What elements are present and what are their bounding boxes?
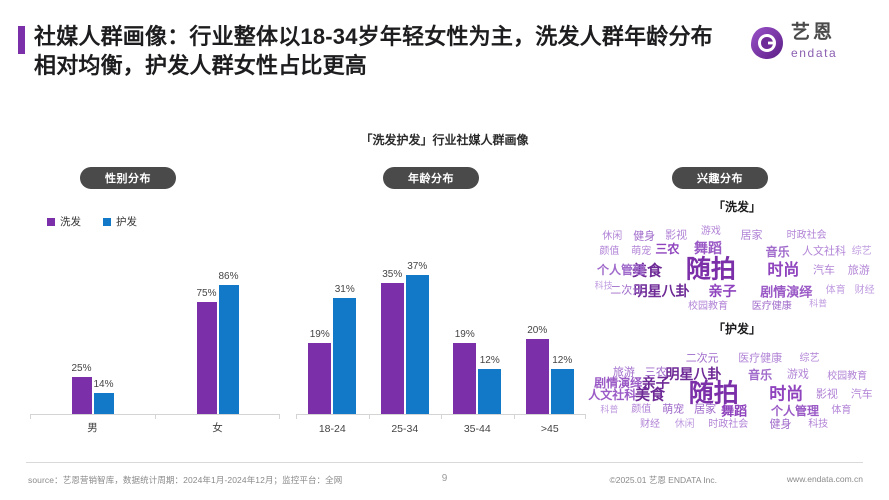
wordcloud-word: 时政社会 <box>708 420 748 430</box>
bar-group: 75%86% <box>197 264 239 414</box>
bar-group: 19%12% <box>453 264 501 414</box>
accent-bar <box>18 26 25 54</box>
legend-label-xifa: 洗发 <box>60 214 81 229</box>
bar-group: 19%31% <box>308 264 356 414</box>
bar-rect <box>72 377 92 415</box>
bar-value-label: 35% <box>382 269 402 280</box>
wordcloud-word: 财经 <box>640 420 660 430</box>
category-label: 35-44 <box>441 423 514 435</box>
bar-value-label: 75% <box>197 288 217 299</box>
wordcloud-word: 音乐 <box>748 369 772 381</box>
wordcloud-word: 颜值 <box>599 247 619 257</box>
wordcloud-word: 健身 <box>770 420 792 431</box>
wordcloud-word: 人文社科 <box>588 389 636 401</box>
wordcloud-word: 随拍 <box>686 257 736 282</box>
bar-rect <box>381 283 404 414</box>
axis-tick <box>279 415 280 419</box>
wordcloud-word: 校园教育 <box>688 302 728 312</box>
bar-女-洗发: 75% <box>197 302 217 415</box>
bar-rect <box>526 339 549 414</box>
wordcloud-word: 体育 <box>826 286 846 296</box>
category-label: >45 <box>514 423 587 435</box>
bar-rect <box>551 369 574 414</box>
wordcloud-xifa-words: 随拍时尚美食舞蹈明星八卦亲子剧情演绎个人管理音乐人文社科三农二次元影视游戏居家时… <box>592 219 882 317</box>
legend-item-xifa: 洗发 <box>47 214 81 229</box>
bar-group: 25%14% <box>72 264 114 414</box>
wordcloud-hufa-words: 随拍时尚美食明星八卦亲子舞蹈剧情演绎人文社科个人管理二次元医疗健康综艺音乐游戏校… <box>592 341 882 439</box>
wordcloud-word: 时政社会 <box>787 231 827 241</box>
wordcloud-word: 科普 <box>809 300 827 309</box>
bar-男-护发: 14% <box>94 393 114 414</box>
wordcloud-word: 校园教育 <box>827 372 867 382</box>
wordcloud-word: 科技 <box>595 281 613 290</box>
axis-tick <box>296 415 297 419</box>
wordcloud-word: 体育 <box>831 406 851 416</box>
bar-value-label: 19% <box>310 329 330 340</box>
wordcloud-word: 医疗健康 <box>752 302 792 312</box>
wordcloud-word: 舞蹈 <box>694 241 722 255</box>
wordcloud-word: 影视 <box>816 389 838 400</box>
bar-35-44-护发: 12% <box>478 369 501 414</box>
logo-text: 艺恩 endata <box>791 22 837 62</box>
bar-group: 35%37% <box>381 264 429 414</box>
wordcloud-word: 休闲 <box>675 420 695 430</box>
bar-25-34-护发: 37% <box>406 275 429 414</box>
wordcloud-word: 颜值 <box>631 405 651 415</box>
bar-value-label: 19% <box>455 329 475 340</box>
axis-tick <box>369 415 370 419</box>
logo-cn: 艺恩 <box>791 22 835 43</box>
bar-value-label: 14% <box>94 379 114 390</box>
wordcloud-word: 休闲 <box>602 232 622 242</box>
legend-item-hufa: 护发 <box>103 214 137 229</box>
page-number: 9 <box>0 473 889 484</box>
wordcloud-word: 居家 <box>741 230 763 241</box>
wordcloud-word: 汽车 <box>851 389 873 400</box>
wordcloud-hufa-heading: 「护发」 <box>592 320 882 337</box>
bar-value-label: 20% <box>527 325 547 336</box>
category-label: 女 <box>155 420 280 435</box>
bar-value-label: 37% <box>407 261 427 272</box>
bar-rect <box>406 275 429 414</box>
gender-distribution-chart: 25%14%男75%86%女 <box>30 232 280 437</box>
wordcloud-word: 时尚 <box>769 385 803 402</box>
wordcloud-word: 健身 <box>633 231 655 242</box>
bar-男-洗发: 25% <box>72 377 92 415</box>
axis-tick <box>155 415 156 419</box>
wordcloud-word: 综艺 <box>852 247 872 257</box>
bar-value-label: 31% <box>335 284 355 295</box>
age-distribution-chart: 19%31%18-2435%37%25-3419%12%35-4420%12%>… <box>296 232 586 437</box>
wordcloud-word: 个人管理 <box>597 264 645 276</box>
bar-value-label: 25% <box>72 363 92 374</box>
wordcloud-word: 影视 <box>665 230 687 241</box>
wordcloud-hufa: 「护发」 随拍时尚美食明星八卦亲子舞蹈剧情演绎人文社科个人管理二次元医疗健康综艺… <box>592 320 882 435</box>
bar-rect <box>197 302 217 415</box>
wordcloud-word: 萌宠 <box>662 404 684 415</box>
category-label: 25-34 <box>369 423 442 435</box>
chart-legend: 洗发 护发 <box>47 214 137 229</box>
bar->45-洗发: 20% <box>526 339 549 414</box>
wordcloud-word: 个人管理 <box>771 405 819 417</box>
wordcloud-word: 旅游 <box>848 265 870 276</box>
section-pill-interest: 兴趣分布 <box>672 167 768 189</box>
bar-rect <box>333 298 356 414</box>
axis-tick <box>30 415 31 419</box>
bar-18-24-护发: 31% <box>333 298 356 414</box>
chart-title: 「洗发护发」行业社媒人群画像 <box>0 131 889 148</box>
bar-rect <box>478 369 501 414</box>
wordcloud-word: 三农 <box>655 243 679 255</box>
wordcloud-xifa-heading: 「洗发」 <box>592 198 882 215</box>
wordcloud-word: 三农 <box>645 368 667 379</box>
category-label: 18-24 <box>296 423 369 435</box>
page-title: 社媒人群画像：行业整体以18-34岁年轻女性为主，洗发人群年龄分布相对均衡，护发… <box>34 22 734 80</box>
wordcloud-word: 居家 <box>694 404 716 415</box>
axis-tick <box>585 415 586 419</box>
axis-tick <box>514 415 515 419</box>
wordcloud-word: 舞蹈 <box>721 404 747 417</box>
bar-18-24-洗发: 19% <box>308 343 331 414</box>
wordcloud-word: 游戏 <box>701 227 721 237</box>
bar-25-34-洗发: 35% <box>381 283 404 414</box>
wordcloud-word: 亲子 <box>709 284 737 298</box>
wordcloud-word: 剧情演绎 <box>760 285 812 298</box>
wordcloud-word: 汽车 <box>813 265 835 276</box>
bar-value-label: 12% <box>480 355 500 366</box>
legend-swatch-xifa <box>47 218 55 226</box>
wordcloud-word: 萌宠 <box>631 247 651 257</box>
bar-rect <box>219 285 239 414</box>
wordcloud-word: 科普 <box>600 405 618 414</box>
wordcloud-word: 二次元 <box>610 285 643 296</box>
wordcloud-word: 财经 <box>855 286 875 296</box>
bar->45-护发: 12% <box>551 369 574 414</box>
bar-rect <box>94 393 114 414</box>
slide: 社媒人群画像：行业整体以18-34岁年轻女性为主，洗发人群年龄分布相对均衡，护发… <box>0 0 889 500</box>
wordcloud-word: 游戏 <box>787 370 809 381</box>
axis-tick <box>441 415 442 419</box>
wordcloud-word: 综艺 <box>800 354 820 364</box>
bar-group: 20%12% <box>526 264 574 414</box>
wordcloud-word: 人文社科 <box>802 247 846 258</box>
section-pill-age: 年龄分布 <box>383 167 479 189</box>
bar-35-44-洗发: 19% <box>453 343 476 414</box>
endata-logo-icon <box>749 25 785 61</box>
wordcloud-word: 明星八卦 <box>666 367 722 381</box>
bar-rect <box>453 343 476 414</box>
footer-divider <box>26 462 863 463</box>
wordcloud-xifa: 「洗发」 随拍时尚美食舞蹈明星八卦亲子剧情演绎个人管理音乐人文社科三农二次元影视… <box>592 198 882 313</box>
wordcloud-word: 医疗健康 <box>738 353 782 364</box>
category-label: 男 <box>30 420 155 435</box>
wordcloud-word: 时尚 <box>767 263 799 279</box>
bar-rect <box>308 343 331 414</box>
footer-url: www.endata.com.cn <box>787 474 863 484</box>
bar-女-护发: 86% <box>219 285 239 414</box>
legend-swatch-hufa <box>103 218 111 226</box>
wordcloud-word: 音乐 <box>766 246 790 258</box>
wordcloud-word: 旅游 <box>613 368 635 379</box>
wordcloud-word: 二次元 <box>686 353 719 364</box>
wordcloud-word: 科技 <box>808 420 828 430</box>
legend-label-hufa: 护发 <box>116 214 137 229</box>
bar-value-label: 86% <box>219 271 239 282</box>
logo-en: endata <box>791 46 837 60</box>
bar-value-label: 12% <box>552 355 572 366</box>
section-pill-gender: 性别分布 <box>80 167 176 189</box>
footer-copyright: ©2025.01 艺恩 ENDATA Inc. <box>609 474 717 486</box>
brand-logo: 艺恩 endata <box>749 22 867 68</box>
